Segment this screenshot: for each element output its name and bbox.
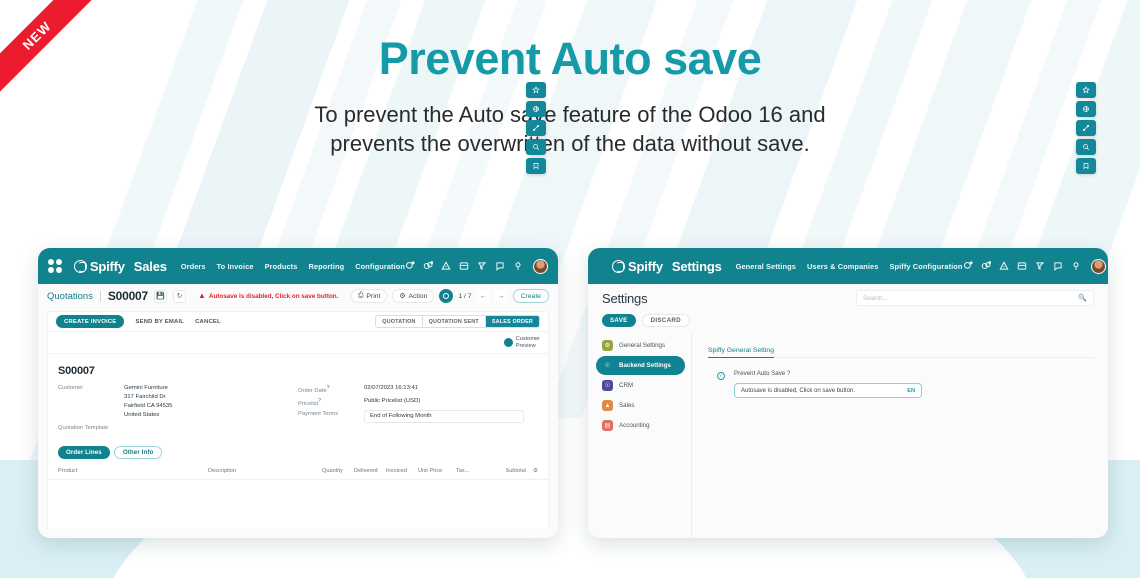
menu-item-spiffy-configuration[interactable]: Spiffy Configuration [889, 262, 962, 271]
customer-preview-button[interactable]: Customer Preview [504, 336, 540, 350]
record-sheet: CREATE INVOICE SEND BY EMAIL CANCEL QUOT… [47, 311, 549, 529]
app-name: Settings [672, 259, 722, 274]
avatar[interactable] [1091, 259, 1106, 274]
pin-icon[interactable] [513, 261, 523, 271]
new-badge: NEW [0, 0, 92, 92]
column-unit-price: Unit Price [418, 468, 456, 474]
chevron-right-icon[interactable]: → [495, 290, 508, 303]
accounting-icon: ▤ [602, 420, 613, 431]
brand-name: Spiffy [90, 259, 125, 274]
save-icon[interactable]: 💾 [154, 290, 167, 303]
preview-icon [504, 338, 513, 347]
print-icon: ⎙ [358, 292, 363, 300]
sidebar-label-general-settings: General Settings [619, 342, 665, 349]
save-button[interactable]: SAVE [602, 314, 636, 327]
customer-address-1: 317 Fairchild Dr [124, 394, 166, 400]
customer-address-3: United States [124, 412, 159, 418]
settings-main-panel: Spiffy General Setting ✓ Prevent Auto Sa… [691, 333, 1108, 538]
section-tab-spiffy-general-setting[interactable]: Spiffy General Setting [708, 347, 774, 358]
updates-icon[interactable] [441, 261, 451, 271]
breadcrumb-separator: | [99, 290, 102, 302]
discard-icon[interactable]: ↻ [173, 290, 186, 303]
gear-icon: ⚙ [399, 292, 405, 300]
autosave-message-value: Autosave is disabled, Click on save butt… [741, 388, 855, 394]
form-column-left: Customer Gemini Furniture 317 Fairchild … [58, 384, 298, 434]
pencil-icon[interactable] [1076, 120, 1096, 136]
status-bar: CREATE INVOICE SEND BY EMAIL CANCEL QUOT… [48, 312, 548, 332]
menu-item-users-companies[interactable]: Users & Companies [807, 262, 879, 271]
settings-sidebar: ⚙ General Settings ☉ Backend Settings ☉ … [588, 333, 691, 538]
settings-app-screenshot: Spiffy Settings General Settings Users &… [588, 248, 1108, 538]
checkbox-prevent-auto-save[interactable]: ✓ [717, 372, 725, 380]
payment-terms-input[interactable]: End of Following Month [364, 410, 524, 423]
sidebar-label-crm: CRM [619, 382, 633, 389]
create-invoice-button[interactable]: CREATE INVOICE [56, 315, 124, 328]
sidebar-item-crm[interactable]: ☉ CRM [596, 376, 685, 395]
new-badge-label: NEW [0, 0, 92, 92]
sidebar-item-general-settings[interactable]: ⚙ General Settings [596, 336, 685, 355]
brand-logo[interactable]: Spiffy [74, 259, 125, 274]
record-indicator-icon [439, 289, 453, 303]
pencil-icon[interactable] [526, 120, 546, 136]
chevron-left-icon[interactable]: ← [477, 290, 490, 303]
customer-preview-line1: Customer [516, 336, 540, 342]
order-date-field: Order Date? 02/07/2023 16:13:41 [298, 384, 538, 394]
sales-icon: ▲ [602, 400, 613, 411]
activities-icon[interactable] [981, 261, 991, 271]
settings-save-bar: SAVE DISCARD [588, 312, 1108, 333]
order-date-label: Order Date? [298, 384, 364, 394]
column-taxes: Tax... [456, 468, 486, 474]
column-subtotal: Subtotal [486, 468, 526, 474]
settings-body: ⚙ General Settings ☉ Backend Settings ☉ … [588, 333, 1108, 538]
avatar[interactable] [533, 259, 548, 274]
pricelist-value[interactable]: Public Pricelist (USD) [364, 397, 420, 407]
warning-icon: ▲ [198, 292, 206, 300]
form-column-right: Order Date? 02/07/2023 16:13:41 Pricelis… [298, 384, 538, 434]
apps-icon[interactable] [1017, 261, 1027, 271]
customer-preview-line2: Preview [516, 343, 536, 349]
breadcrumb-record: S00007 [108, 289, 148, 303]
sidebar-item-accounting[interactable]: ▤ Accounting [596, 416, 685, 435]
page-title: Prevent Auto save [0, 36, 1140, 81]
customer-name[interactable]: Gemini Furniture [124, 385, 168, 391]
autosave-warning-text: Autosave is disabled, Click on save butt… [209, 293, 338, 300]
hero-subtitle-line1: To prevent the Auto save feature of the … [0, 101, 1140, 130]
stage-quotation[interactable]: QUOTATION [376, 316, 422, 327]
right-nav-menu: General Settings Users & Companies Spiff… [736, 262, 963, 271]
payment-terms-label: Payment Terms [298, 410, 364, 423]
right-navbar-icons [963, 259, 1106, 274]
customer-field: Customer Gemini Furniture 317 Fairchild … [58, 384, 298, 421]
chat-icon[interactable] [495, 261, 505, 271]
right-navbar: Spiffy Settings General Settings Users &… [588, 248, 1108, 284]
apps-grid-icon[interactable] [48, 259, 62, 273]
sidebar-item-backend-settings[interactable]: ☉ Backend Settings [596, 356, 685, 375]
pager-count: 1 / 7 [458, 293, 471, 300]
chat-icon[interactable] [1053, 261, 1063, 271]
brand-logo[interactable]: Spiffy [612, 259, 663, 274]
customer-value: Gemini Furniture 317 Fairchild Dr Fairfi… [124, 384, 172, 421]
quotation-template-field: Quotation Template [58, 424, 298, 431]
messages-icon[interactable] [405, 261, 415, 271]
star-icon[interactable] [526, 82, 546, 98]
menu-item-to-invoice[interactable]: To Invoice [217, 262, 254, 271]
menu-item-configuration[interactable]: Configuration [355, 262, 405, 271]
left-navbar-icons [405, 259, 548, 274]
backend-settings-icon: ☉ [602, 360, 613, 371]
print-label: Print [366, 293, 380, 300]
discard-button[interactable]: DISCARD [642, 314, 690, 327]
tab-other-info[interactable]: Other Info [114, 446, 163, 459]
print-button[interactable]: ⎙ Print [351, 289, 387, 303]
stage-sales-order[interactable]: SALES ORDER [486, 316, 539, 327]
right-floating-rail [1076, 82, 1096, 174]
apps-grid-icon[interactable] [598, 259, 600, 273]
bookmark-icon[interactable] [1076, 158, 1096, 174]
column-quantity: Quantity [322, 468, 354, 474]
create-button[interactable]: Create [513, 289, 549, 303]
menu-item-general-settings[interactable]: General Settings [736, 262, 796, 271]
settings-page-title: Settings [602, 291, 647, 306]
spiffy-logo-icon [612, 260, 625, 273]
left-floating-rail [526, 82, 546, 174]
breadcrumb-parent[interactable]: Quotations [47, 291, 93, 302]
form-fields: Customer Gemini Furniture 317 Fairchild … [48, 377, 548, 434]
pricelist-label: Pricelist? [298, 397, 364, 407]
search-icon[interactable]: 🔍 [1078, 294, 1087, 302]
settings-header: Settings Search... 🔍 [588, 284, 1108, 312]
left-control-actions: ⎙ Print ⚙ Action 1 / 7 ← → Create [351, 289, 549, 303]
updates-icon[interactable] [999, 261, 1009, 271]
prevent-auto-save-option: ✓ Prevent Auto Save ? Autosave is disabl… [708, 370, 1094, 398]
debug-icon[interactable] [1035, 261, 1045, 271]
star-icon[interactable] [1076, 82, 1096, 98]
autosave-message-input[interactable]: Autosave is disabled, Click on save butt… [734, 383, 922, 398]
action-button[interactable]: ⚙ Action [392, 289, 434, 303]
magnifier-icon[interactable] [526, 139, 546, 155]
send-by-email-button[interactable]: SEND BY EMAIL [135, 319, 184, 325]
prevent-auto-save-label: Prevent Auto Save ? [734, 370, 922, 377]
payment-terms-field: Payment Terms End of Following Month [298, 410, 538, 423]
sheet-tabs: Order Lines Other Info [48, 434, 548, 459]
customer-preview-row: Customer Preview [48, 332, 548, 354]
customer-label: Customer [58, 384, 124, 421]
menu-item-reporting[interactable]: Reporting [308, 262, 344, 271]
customer-address-2: Fairfield CA 94535 [124, 403, 172, 409]
tab-order-lines[interactable]: Order Lines [58, 446, 110, 459]
stage-pipeline: QUOTATION QUOTATION SENT SALES ORDER [375, 315, 540, 328]
language-badge[interactable]: EN [907, 388, 915, 394]
left-control-bar: Quotations | S00007 💾 ↻ ▲ Autosave is di… [38, 284, 558, 308]
globe-icon[interactable] [1076, 101, 1096, 117]
column-delivered: Delivered [354, 468, 386, 474]
pin-icon[interactable] [1071, 261, 1081, 271]
spiffy-logo-icon [74, 260, 87, 273]
hero-subtitle-line2: prevents the overwritten of the data wit… [0, 130, 1140, 159]
menu-item-products[interactable]: Products [265, 262, 298, 271]
left-nav-menu: Orders To Invoice Products Reporting Con… [181, 262, 405, 271]
record-title: S00007 [48, 354, 548, 377]
magnifier-icon[interactable] [1076, 139, 1096, 155]
apps-icon[interactable] [459, 261, 469, 271]
stage-quotation-sent[interactable]: QUOTATION SENT [423, 316, 486, 327]
order-lines-table-header: Product Description Quantity Delivered I… [48, 459, 548, 480]
activities-icon[interactable] [423, 261, 433, 271]
column-invoiced: Invoiced [386, 468, 418, 474]
quotation-template-label: Quotation Template [58, 424, 124, 431]
sidebar-label-sales: Sales [619, 402, 634, 409]
column-options-icon[interactable]: ⚙ [526, 468, 538, 474]
brand-name: Spiffy [628, 259, 663, 274]
sidebar-item-sales[interactable]: ▲ Sales [596, 396, 685, 415]
left-navbar: Spiffy Sales Orders To Invoice Products … [38, 248, 558, 284]
search-placeholder: Search... [863, 295, 888, 302]
action-label: Action [408, 293, 427, 300]
autosave-warning: ▲ Autosave is disabled, Click on save bu… [198, 292, 338, 300]
sidebar-label-accounting: Accounting [619, 422, 650, 429]
column-product: Product [58, 468, 208, 474]
menu-item-orders[interactable]: Orders [181, 262, 206, 271]
debug-icon[interactable] [477, 261, 487, 271]
sidebar-label-backend-settings: Backend Settings [619, 362, 671, 369]
messages-icon[interactable] [963, 261, 973, 271]
sales-app-screenshot: Spiffy Sales Orders To Invoice Products … [38, 248, 558, 538]
column-description: Description [208, 468, 322, 474]
order-date-value[interactable]: 02/07/2023 16:13:41 [364, 384, 418, 394]
app-name: Sales [134, 259, 167, 274]
pricelist-field: Pricelist? Public Pricelist (USD) [298, 397, 538, 407]
bookmark-icon[interactable] [526, 158, 546, 174]
hero-section: Prevent Auto save To prevent the Auto sa… [0, 36, 1140, 158]
globe-icon[interactable] [526, 101, 546, 117]
cancel-button[interactable]: CANCEL [195, 319, 221, 325]
crm-icon: ☉ [602, 380, 613, 391]
search-input[interactable]: Search... 🔍 [856, 290, 1094, 306]
general-settings-icon: ⚙ [602, 340, 613, 351]
